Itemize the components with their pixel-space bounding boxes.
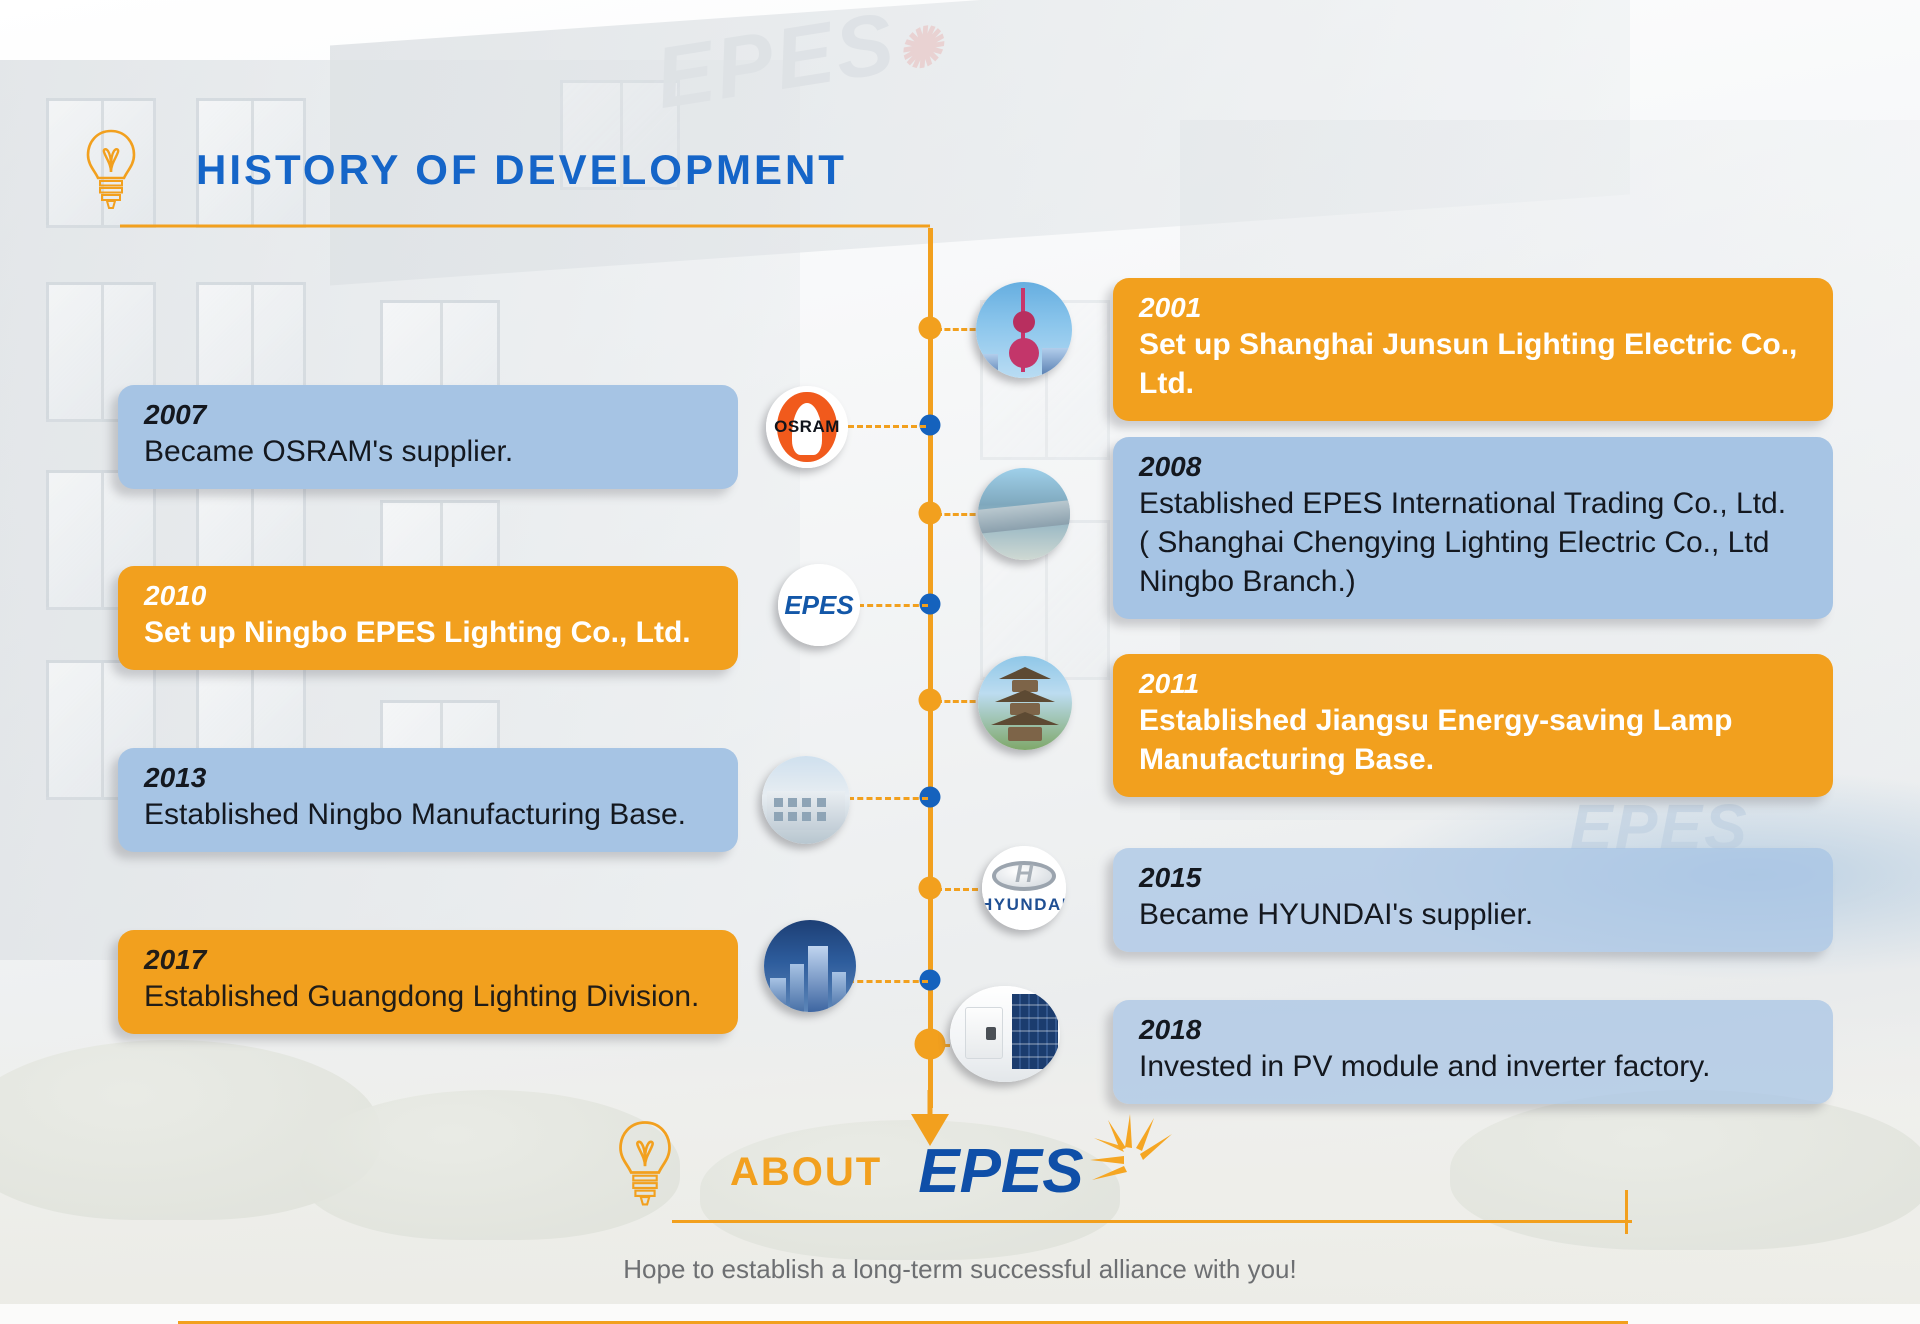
page-header: HISTORY OF DEVELOPMENT <box>80 128 847 212</box>
timeline-card-2018[interactable]: 2018 Invested in PV module and inverter … <box>1113 1000 1833 1104</box>
connector-2008 <box>936 513 984 516</box>
timeline-card-2018-year: 2018 <box>1139 1014 1807 1045</box>
epes-logo-label: EPES <box>784 590 853 621</box>
connector-2013 <box>848 797 928 800</box>
footer-tagline: Hope to establish a long-term successful… <box>0 1254 1920 1285</box>
timeline-card-2011-year: 2011 <box>1139 668 1807 699</box>
timeline-card-2013[interactable]: 2013 Established Ningbo Manufacturing Ba… <box>118 748 738 852</box>
connector-2011 <box>936 700 984 703</box>
connector-2010 <box>858 604 928 607</box>
timeline-card-2008-line-3: Ningbo Branch.) <box>1139 562 1807 601</box>
badge-factory-building-photo <box>762 756 850 844</box>
timeline-card-2015-text: Became HYUNDAI's supplier. <box>1139 895 1807 934</box>
epes-logo: EPES <box>918 1136 1083 1207</box>
connector-2007 <box>848 425 926 428</box>
timeline-card-2007-text: Became OSRAM's supplier. <box>144 432 712 471</box>
badge-city-skyline-photo <box>764 920 856 1012</box>
lightbulb-icon <box>80 128 142 212</box>
hyundai-icon <box>992 861 1056 891</box>
timeline-card-2001-text: Set up Shanghai Junsun Lighting Electric… <box>1139 325 1807 403</box>
timeline-card-2011-line-1: Established Jiangsu Energy-saving Lamp <box>1139 701 1807 740</box>
timeline-card-2007[interactable]: 2007 Became OSRAM's supplier. <box>118 385 738 489</box>
badge-osram-logo: OSRAM <box>766 386 848 468</box>
timeline-card-2011[interactable]: 2011 Established Jiangsu Energy-saving L… <box>1113 654 1833 797</box>
timeline-card-2013-text: Established Ningbo Manufacturing Base. <box>144 795 712 834</box>
timeline-card-2010[interactable]: 2010 Set up Ningbo EPES Lighting Co., Lt… <box>118 566 738 670</box>
timeline-card-2008-year: 2008 <box>1139 451 1807 482</box>
timeline-card-2008-line-1: Established EPES International Trading C… <box>1139 484 1807 523</box>
osram-label: OSRAM <box>774 417 840 437</box>
sunburst-icon <box>1084 1114 1180 1215</box>
badge-pagoda-photo <box>978 656 1072 750</box>
timeline-node-2018 <box>915 1029 946 1060</box>
timeline-card-2007-year: 2007 <box>144 399 712 430</box>
badge-shanghai-tower-photo <box>976 282 1072 378</box>
header-connector-line <box>118 212 948 245</box>
badge-epes-logo: EPES <box>778 564 860 646</box>
epes-logo-text: EPES <box>918 1137 1083 1206</box>
timeline-card-2010-year: 2010 <box>144 580 712 611</box>
timeline-card-2001[interactable]: 2001 Set up Shanghai Junsun Lighting Ele… <box>1113 278 1833 421</box>
timeline-card-2017-year: 2017 <box>144 944 712 975</box>
footer-frame-right-edge <box>1625 1190 1628 1234</box>
timeline-card-2001-year: 2001 <box>1139 292 1807 323</box>
page-title: HISTORY OF DEVELOPMENT <box>196 146 847 194</box>
background-shrub <box>1450 1090 1920 1250</box>
footer-divider-line <box>672 1220 1632 1223</box>
timeline-card-2015-year: 2015 <box>1139 862 1807 893</box>
connector-2017 <box>848 980 928 983</box>
osram-icon: OSRAM <box>777 392 836 463</box>
timeline-card-2017-text: Established Guangdong Lighting Division. <box>144 977 712 1016</box>
timeline-card-2017[interactable]: 2017 Established Guangdong Lighting Divi… <box>118 930 738 1034</box>
timeline-card-2018-text: Invested in PV module and inverter facto… <box>1139 1047 1807 1086</box>
hyundai-label: HYUNDAI <box>982 895 1066 915</box>
timeline-card-2011-line-2: Manufacturing Base. <box>1139 740 1807 779</box>
connector-2015 <box>936 888 978 891</box>
timeline-card-2010-text: Set up Ningbo EPES Lighting Co., Ltd. <box>144 613 712 652</box>
timeline-card-2008-line-2: ( Shanghai Chengying Lighting Electric C… <box>1139 523 1807 562</box>
badge-pv-inverter-photo <box>950 986 1060 1082</box>
about-label: ABOUT <box>730 1150 882 1195</box>
sunburst-icon: ✺ <box>892 16 949 83</box>
about-section-heading: ABOUT EPES <box>610 1132 1084 1207</box>
timeline-card-2013-year: 2013 <box>144 762 712 793</box>
timeline-card-2008[interactable]: 2008 Established EPES International Trad… <box>1113 437 1833 619</box>
badge-hyundai-logo: HYUNDAI <box>982 846 1066 930</box>
timeline-card-2015[interactable]: 2015 Became HYUNDAI's supplier. <box>1113 848 1833 952</box>
badge-factory-roof-photo <box>978 468 1070 560</box>
